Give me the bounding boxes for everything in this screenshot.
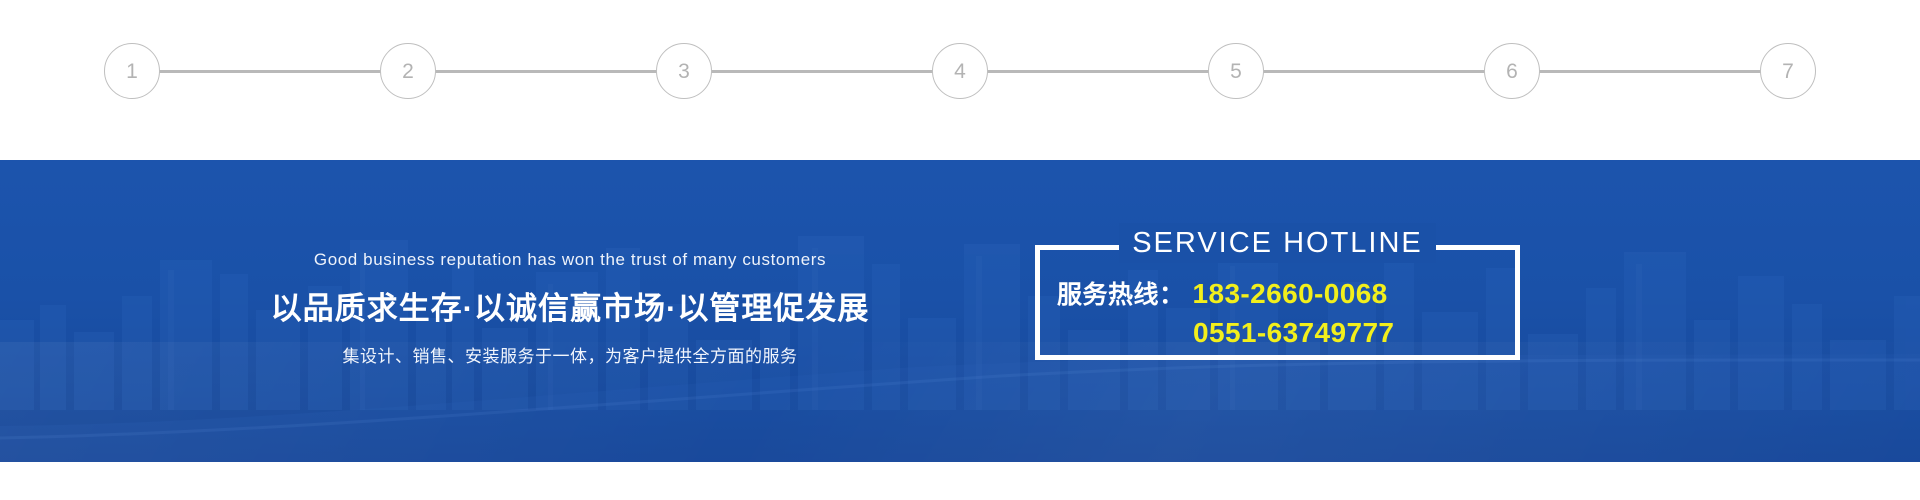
step-label: 4 (954, 61, 966, 82)
step-label: 2 (402, 61, 414, 82)
step-node-2[interactable]: 2 (380, 43, 436, 99)
step-connector-6-7 (1539, 70, 1761, 73)
slogan-block: Good business reputation has won the tru… (250, 250, 890, 367)
step-connector-3-4 (711, 70, 933, 73)
hotline-row-secondary: 0551-63749777 (1035, 317, 1520, 349)
footer-spacer (0, 462, 1920, 500)
page-root: 1 2 3 4 5 6 7 (0, 0, 1920, 500)
promo-banner: Good business reputation has won the tru… (0, 160, 1920, 462)
slogan-english: Good business reputation has won the tru… (250, 250, 890, 270)
hotline-numbers: 服务热线： 183-2660-0068 0551-63749777 (1035, 275, 1520, 349)
step-node-4[interactable]: 4 (932, 43, 988, 99)
step-node-6[interactable]: 6 (1484, 43, 1540, 99)
step-label: 6 (1506, 61, 1518, 82)
step-node-3[interactable]: 3 (656, 43, 712, 99)
step-connector-4-5 (987, 70, 1209, 73)
step-label: 5 (1230, 61, 1242, 82)
step-label: 7 (1782, 61, 1794, 82)
hotline-number-primary[interactable]: 183-2660-0068 (1193, 278, 1388, 310)
slogan-chinese-sub: 集设计、销售、安装服务于一体，为客户提供全方面的服务 (250, 342, 890, 367)
service-hotline-box: SERVICE HOTLINE 服务热线： 183-2660-0068 0551… (1035, 245, 1520, 360)
step-label: 3 (678, 61, 690, 82)
step-connector-5-6 (1263, 70, 1485, 73)
step-connector-2-3 (435, 70, 657, 73)
step-node-5[interactable]: 5 (1208, 43, 1264, 99)
step-connector-1-2 (159, 70, 381, 73)
step-label: 1 (126, 61, 138, 82)
hotline-label: 服务热线： (1057, 275, 1185, 311)
hotline-row-primary: 服务热线： 183-2660-0068 (1035, 275, 1520, 311)
step-indicator-bar: 1 2 3 4 5 6 7 (0, 0, 1920, 160)
step-node-1[interactable]: 1 (104, 43, 160, 99)
slogan-chinese-main: 以品质求生存·以诚信赢市场·以管理促发展 (250, 283, 890, 328)
step-node-7[interactable]: 7 (1760, 43, 1816, 99)
step-indicator-track: 1 2 3 4 5 6 7 (104, 43, 1816, 99)
hotline-number-secondary[interactable]: 0551-63749777 (1193, 317, 1394, 349)
